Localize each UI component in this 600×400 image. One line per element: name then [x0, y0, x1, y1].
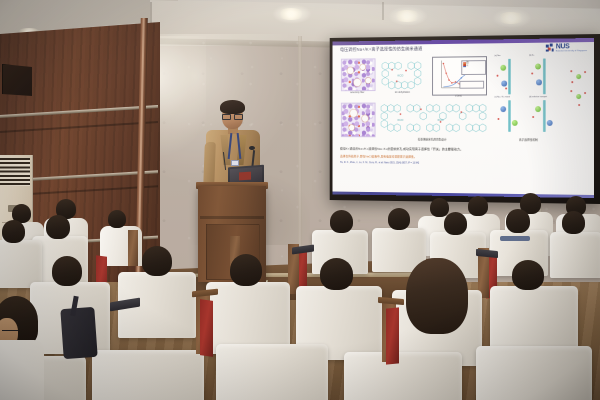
attendee-collar-mid-4 — [500, 236, 530, 241]
ion-blue-b — [536, 79, 541, 84]
cluster-sat-3 — [571, 81, 573, 83]
seat-back-mid-5[interactable] — [550, 232, 600, 278]
nus-logo: NUS National University of Singapore — [546, 43, 588, 52]
attendee-head-near-5 — [512, 260, 544, 290]
seat-back-mid-7[interactable] — [0, 240, 42, 288]
laptop-screen-content — [239, 172, 251, 181]
presenter-hair — [220, 100, 245, 114]
seat-side-panel-near-1 — [200, 299, 213, 357]
attendee-head-far-1 — [468, 196, 488, 216]
slide-body: 模拟K+通道的Na+/K+选择性Na+-K+的亚纳米孔,成功实现离子选择性「开关… — [340, 147, 586, 167]
lecture-hall-photo: 电压调控Na+/K+离子选择性的仿生纳米通道 NUS National Univ… — [0, 0, 600, 400]
ion-blue-d — [547, 120, 553, 126]
plot-legend-secondary — [459, 81, 484, 89]
attendee-head-mid-3 — [444, 212, 467, 235]
attendee-head-mid-1 — [330, 210, 353, 233]
ion-panel-label-b: (b) K+ — [529, 55, 534, 57]
ion-blue-c — [500, 106, 506, 112]
attendee-head-mid-6 — [46, 215, 70, 239]
seat-back-front-3[interactable] — [476, 346, 592, 400]
downlight-flare-1 — [272, 4, 312, 24]
svg-text:KCO: KCO — [397, 118, 404, 122]
figure-ion-caption: 离子选择性机制 — [491, 138, 567, 142]
seat-post-far-1 — [128, 230, 138, 266]
air-conditioner-vent — [0, 158, 30, 186]
eyeglasses-icon — [222, 114, 242, 118]
slide-body-highlight: 选择性传输离子,即在NaCl溶液中,具有电压可调控离子选择性。 — [340, 154, 586, 160]
cluster-sat-2 — [584, 71, 586, 73]
figure-cluster — [568, 68, 590, 116]
ion-panel-label-c: (c) Na+ / K+ mixed — [495, 96, 510, 98]
cluster-sat-1 — [570, 70, 572, 72]
membrane-d — [543, 100, 546, 132]
attendee-head-near-3 — [320, 258, 353, 290]
wall-speaker-icon — [2, 64, 34, 98]
attendee-head-mid-4 — [506, 209, 530, 233]
cluster-core-1 — [576, 74, 581, 79]
figure-plot-caption: d (nm) — [432, 94, 485, 97]
downlight-flare-3 — [492, 8, 532, 28]
cluster-sat-6 — [578, 104, 580, 106]
seat-back-front-1[interactable] — [216, 344, 328, 400]
seat-side-panel-near-2 — [386, 307, 399, 364]
attendee-head-far-7 — [108, 210, 126, 228]
attendee-head-near-6 — [52, 256, 82, 286]
figure-lattice-bottom-caption: 石墨烯纳米孔的仿生设计 — [376, 137, 488, 141]
ion-blue-a — [501, 81, 506, 86]
seat-back-front-2[interactable] — [344, 352, 462, 400]
svg-text:KCO: KCO — [397, 73, 404, 77]
ceiling-seam-secondary — [382, 2, 384, 20]
presentation-slide: 电压调控Na+/K+离子选择性的仿生纳米通道 NUS National Univ… — [333, 38, 594, 198]
attendee-glasses-front-1 — [2, 330, 18, 335]
nus-crest-icon — [546, 44, 555, 53]
attendee-head-near-1 — [142, 246, 172, 276]
ion-red-c1 — [497, 118, 499, 120]
figure-plot: Na+ K+ Li+ Cl- — [432, 56, 487, 95]
svg-text:KCO: KCO — [438, 118, 445, 122]
membrane-c — [508, 100, 510, 132]
presenter-badge — [231, 160, 239, 166]
nus-logo-subtitle: National University of Singapore — [556, 50, 587, 52]
seat-back-front-4[interactable] — [92, 350, 204, 400]
figure-molecular-top-caption: selectivity filter — [338, 91, 376, 94]
ion-green-c — [512, 120, 518, 126]
attendee-head-mid-2 — [388, 208, 410, 230]
cluster-sat-4 — [570, 90, 572, 92]
slide-title: 电压调控Na+/K+离子选择性的仿生纳米通道 — [340, 46, 422, 53]
figure-lattice-top-caption: ion dehydration — [376, 91, 428, 94]
attendee-head-near-2 — [230, 254, 262, 286]
figure-molecular-top — [341, 58, 376, 91]
attendee-long-hair — [406, 258, 468, 334]
slide-citation: Hu, R. X., Zhou, J., Lu, X. M., Cuny, R.… — [340, 161, 586, 166]
ion-panel-label-d: (d) selective transport — [529, 96, 547, 98]
ion-green-b — [535, 64, 541, 70]
microphone-icon — [249, 146, 255, 150]
cluster-core-2 — [576, 94, 581, 99]
attendee-head-far-4 — [430, 198, 449, 217]
attendee-head-mid-7 — [2, 220, 25, 243]
figure-lattice-bottom: KCO KCO — [378, 100, 490, 135]
attendee-head-mid-5 — [562, 211, 585, 234]
ion-green-a — [500, 65, 506, 71]
ion-red-a1 — [497, 75, 499, 77]
figure-molecular-bottom — [341, 103, 376, 138]
projection-screen[interactable]: 电压调控Na+/K+离子选择性的仿生纳米通道 NUS National Univ… — [333, 38, 594, 198]
ion-panel-label-a: (a) Na+ — [495, 55, 501, 57]
figure-lattice-top: KCO — [378, 58, 426, 91]
legend-item-3: Cl- — [463, 66, 484, 67]
podium-band — [200, 216, 264, 219]
membrane-b — [543, 59, 546, 95]
ion-red-b1 — [531, 72, 533, 74]
ion-red-d1 — [532, 116, 534, 118]
cluster-sat-5 — [584, 92, 586, 94]
attendee-bag — [60, 307, 97, 359]
downlight-flare-2 — [388, 6, 428, 26]
ion-green-d — [535, 106, 541, 112]
membrane-a — [508, 59, 510, 94]
plot-legend: Na+ K+ Li+ Cl- — [461, 60, 486, 75]
slide-body-text: 模拟K+通道的Na+/K+选择性Na+-K+的亚纳米孔,成功实现离子选择性「开关… — [340, 147, 586, 153]
attendee-torso-front-1 — [0, 340, 44, 400]
figure-ion-transport: (a) Na+ (b) K+ (c) Na+ / K+ mixed (d) se… — [493, 54, 565, 138]
